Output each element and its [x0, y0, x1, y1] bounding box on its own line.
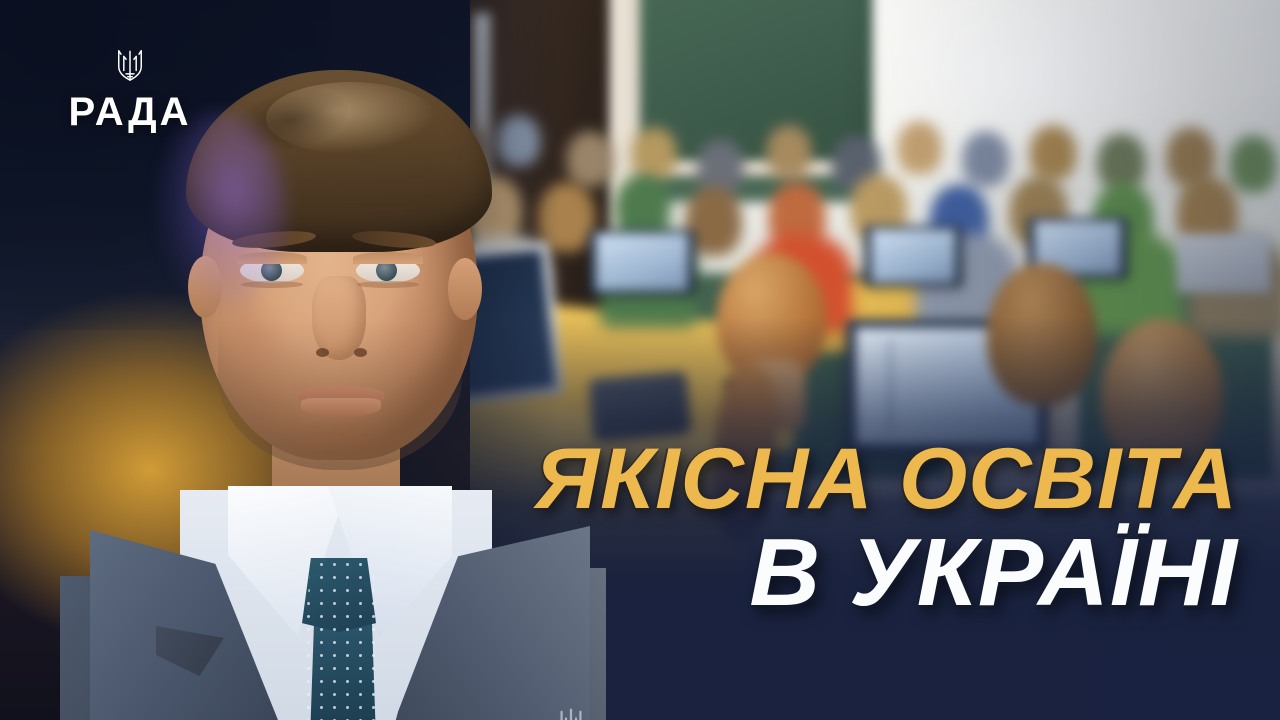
eyelid-right	[353, 252, 423, 264]
ukraine-tryzub-icon	[113, 48, 147, 84]
under-eye-right	[357, 281, 419, 288]
lapel-tryzub-icon	[548, 704, 594, 720]
ear-right	[448, 258, 482, 320]
lower-lip	[301, 398, 381, 417]
purple-rim-light	[156, 112, 286, 312]
nostril-left	[316, 348, 329, 357]
channel-logo[interactable]: РАДА	[60, 48, 200, 132]
navy-right-vignette	[691, 0, 1280, 720]
chin-shadow	[286, 418, 398, 452]
channel-logo-text: РАДА	[60, 92, 200, 132]
necktie-polka-dots	[302, 558, 382, 720]
nostril-right	[354, 348, 367, 357]
thumbnail-canvas: РАДА ЯКІСНА ОСВІТА В УКРАЇНІ	[0, 0, 1280, 720]
